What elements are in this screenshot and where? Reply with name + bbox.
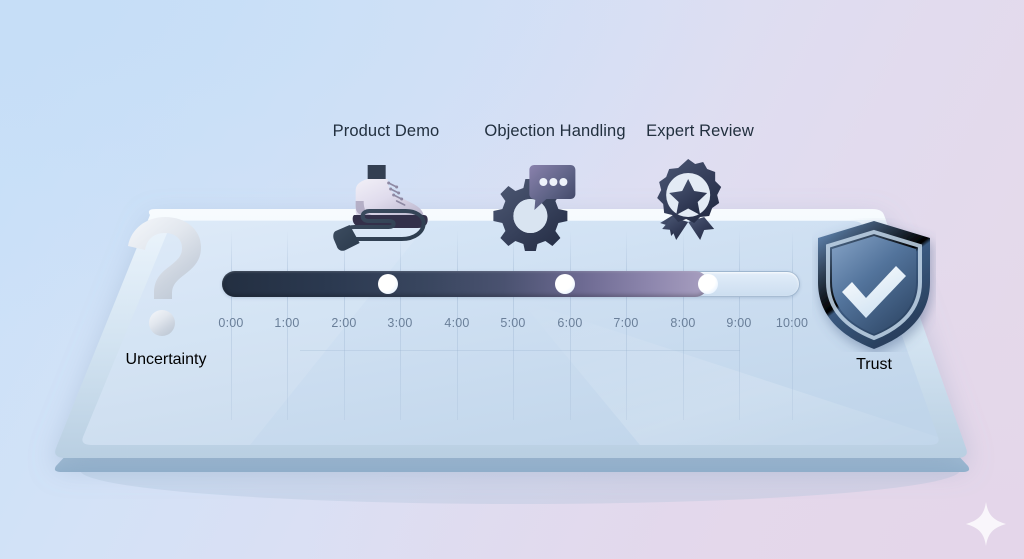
gear-chat-icon (484, 157, 625, 251)
tick-label: 6:00 (557, 316, 582, 330)
tick-label: 10:00 (776, 316, 808, 330)
boot-on-hand-icon (333, 157, 440, 253)
tick-label: 3:00 (387, 316, 412, 330)
tick-label: 9:00 (726, 316, 751, 330)
scene-canvas: Uncertainty (0, 0, 1024, 559)
tick-label: 0:00 (218, 316, 243, 330)
milestone-label: Objection Handling (484, 122, 625, 141)
trust-endpoint: Trust (812, 218, 936, 357)
tick-label: 2:00 (331, 316, 356, 330)
milestone-node-1[interactable] (378, 274, 398, 294)
milestone-label: Expert Review (646, 122, 754, 141)
tick-label: 7:00 (613, 316, 638, 330)
tick-label: 4:00 (444, 316, 469, 330)
progress-fill (222, 271, 708, 297)
tick-label: 8:00 (670, 316, 695, 330)
award-badge-icon (646, 157, 754, 251)
milestone-expert-review[interactable]: Expert Review (646, 122, 754, 251)
sparkle-icon (962, 500, 1010, 548)
timeline-progress-bar[interactable] (222, 271, 800, 297)
trust-label: Trust (819, 356, 929, 374)
timeline-ticks: 0:00 1:00 2:00 3:00 4:00 5:00 6:00 7:00 … (0, 316, 1024, 334)
milestone-node-2[interactable] (555, 274, 575, 294)
tick-label: 1:00 (274, 316, 299, 330)
milestone-node-3[interactable] (698, 274, 718, 294)
milestone-product-demo[interactable]: Product Demo (333, 122, 440, 253)
milestone-label: Product Demo (333, 122, 440, 141)
uncertainty-label: Uncertainty (111, 351, 221, 369)
milestone-objection-handling[interactable]: Objection Handling (484, 122, 625, 251)
tick-label: 5:00 (500, 316, 525, 330)
